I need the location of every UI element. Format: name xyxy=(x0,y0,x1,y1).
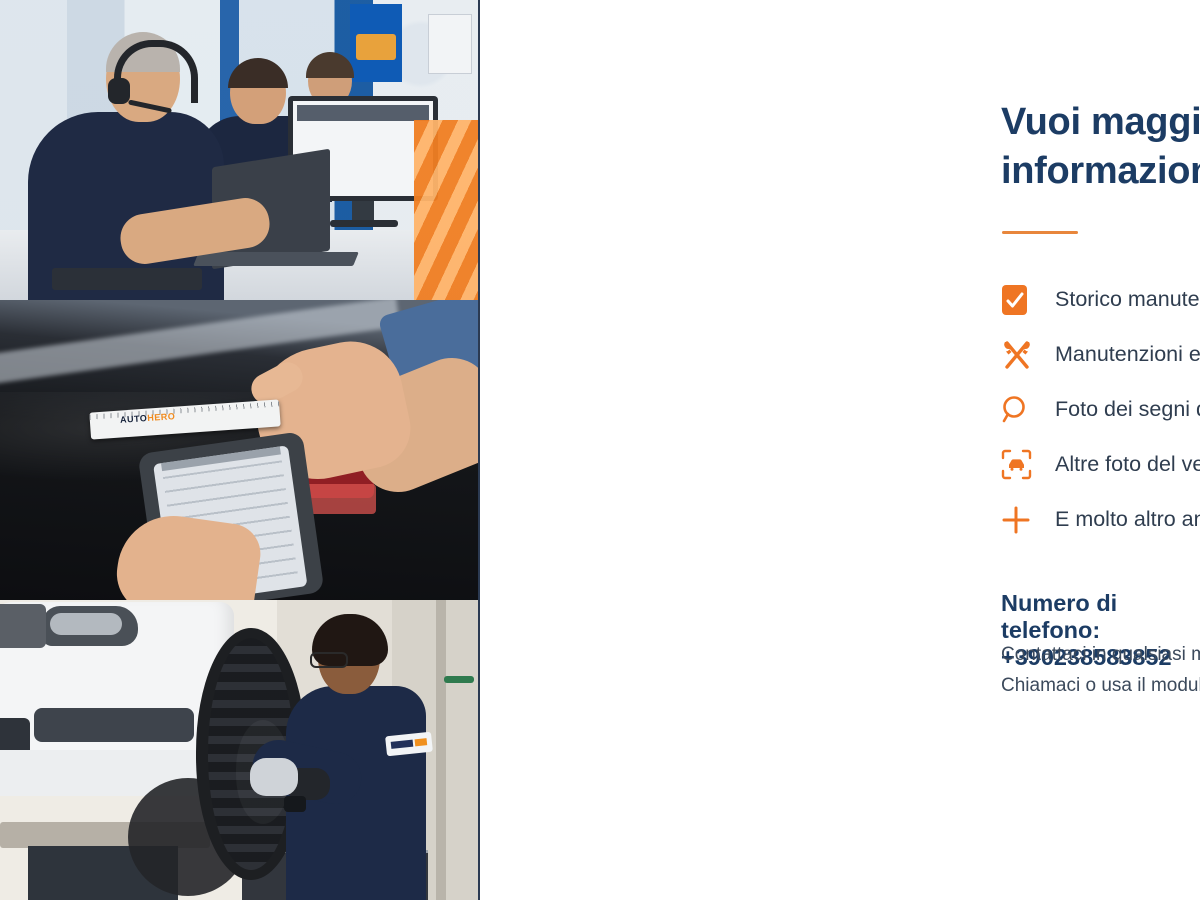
feature-item-maintenance-history: Storico manutentivo xyxy=(1001,272,1200,327)
feature-label: E molto altro ancora xyxy=(1055,507,1200,532)
plus-icon xyxy=(1001,505,1055,535)
checklist-document-icon xyxy=(1001,284,1055,316)
car-photo-frame-icon xyxy=(1001,449,1055,480)
content-panel: Vuoi maggiori informazioni su ? Saremo f… xyxy=(480,0,1200,900)
contact-subtext-line-1: Contattaci in qualsiasi momento per ulte… xyxy=(1001,640,1200,671)
headset-earcup xyxy=(108,78,130,104)
promo-banner: AUTOHERO xyxy=(0,0,1200,900)
car-headlight xyxy=(42,606,138,646)
wall-poster xyxy=(350,4,402,82)
wall-green-tool xyxy=(444,676,474,683)
feature-item-wear-photos: Foto dei segni di usura xyxy=(1001,382,1200,437)
monitor-base xyxy=(330,220,398,227)
car-lower-intake xyxy=(34,708,194,742)
contact-subtext: Contattaci in qualsiasi momento per ulte… xyxy=(1001,640,1200,702)
tools-wrench-screwdriver-icon xyxy=(1001,339,1055,371)
mechanic-glove xyxy=(250,758,298,796)
laptop-keyboard xyxy=(193,252,359,266)
wall-pipe xyxy=(436,600,446,900)
desk-tray xyxy=(52,268,202,290)
contact-subtext-line-2: Chiamaci o usa il modulo di contatto. xyxy=(1001,671,1200,702)
feature-item-more: E molto altro ancora xyxy=(1001,492,1200,547)
page-title: Vuoi maggiori informazioni su ? xyxy=(1001,98,1200,195)
feature-item-maintenance-done: Manutenzioni effettuate xyxy=(1001,327,1200,382)
photo-column: AUTOHERO xyxy=(0,0,480,900)
orange-barrier xyxy=(414,120,478,300)
magnifier-icon xyxy=(1001,395,1055,425)
feature-list: Storico manutentivo Manutenzioni effettu… xyxy=(1001,272,1200,547)
headline-line-1: Vuoi maggiori xyxy=(1001,98,1200,147)
car-grille xyxy=(0,604,46,648)
title-underline-rule xyxy=(1002,231,1078,234)
mechanic-wheel-inspection-photo xyxy=(0,600,478,900)
call-center-agents-photo xyxy=(0,0,478,300)
feature-label: Manutenzioni effettuate xyxy=(1055,342,1200,367)
headline-line-2: informazioni su ? xyxy=(1001,147,1200,196)
vehicle-inspection-ruler-photo: AUTOHERO xyxy=(0,300,478,600)
feature-label: Storico manutentivo xyxy=(1055,287,1200,312)
wrist-watch xyxy=(284,796,306,812)
safety-glasses-icon xyxy=(310,652,348,668)
feature-item-vehicle-photos: Altre foto del veicolo xyxy=(1001,437,1200,492)
feature-label: Altre foto del veicolo xyxy=(1055,452,1200,477)
wall-notice xyxy=(428,14,472,74)
feature-label: Foto dei segni di usura xyxy=(1055,397,1200,422)
